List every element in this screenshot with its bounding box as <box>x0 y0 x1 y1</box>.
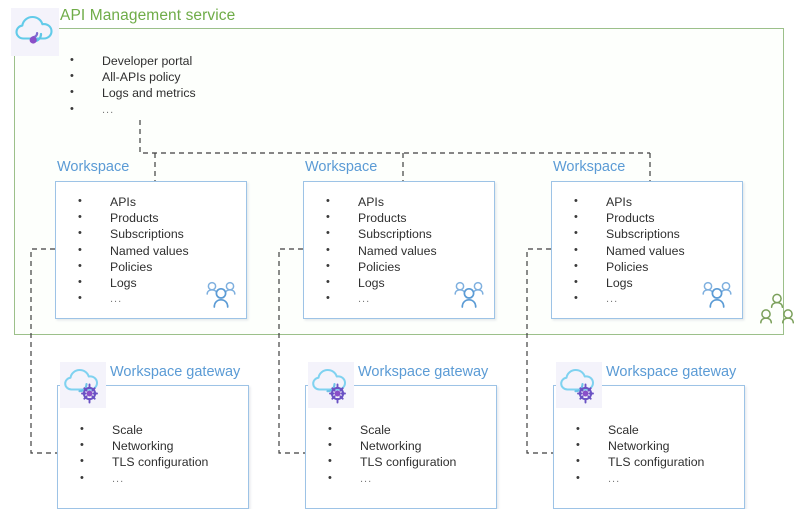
list-item: Subscriptions <box>574 226 685 242</box>
workspace-gateway-1-cloud-icon <box>60 362 106 408</box>
diagram-canvas: API Management service Developer portal … <box>0 0 800 507</box>
list-item: Named values <box>78 243 189 259</box>
workspace-1-box[interactable]: APIs Products Subscriptions Named values… <box>55 181 247 319</box>
workspace-2-people-icon <box>452 280 486 310</box>
list-item: Networking <box>328 438 456 454</box>
list-item: Products <box>326 210 437 226</box>
list-item: Scale <box>80 422 208 438</box>
workspace-gateway-2-label: Workspace gateway <box>358 364 488 380</box>
workspace-gateway-3-label: Workspace gateway <box>606 364 736 380</box>
list-item: TLS configuration <box>576 454 704 470</box>
service-title: API Management service <box>60 7 235 25</box>
workspace-3-box[interactable]: APIs Products Subscriptions Named values… <box>551 181 743 319</box>
workspace-gateway-2-feature-list: Scale Networking TLS configuration ... <box>328 422 456 487</box>
list-item: Products <box>78 210 189 226</box>
list-item: Policies <box>574 259 685 275</box>
workspace-1-feature-list: APIs Products Subscriptions Named values… <box>78 194 189 307</box>
list-item: ... <box>574 291 685 307</box>
workspace-gateway-1-label: Workspace gateway <box>110 364 240 380</box>
workspace-2-label: Workspace <box>305 159 377 175</box>
workspace-gateway-3-feature-list: Scale Networking TLS configuration ... <box>576 422 704 487</box>
service-feature-list: Developer portal All-APIs policy Logs an… <box>70 53 196 118</box>
list-item: Policies <box>326 259 437 275</box>
workspace-2-feature-list: APIs Products Subscriptions Named values… <box>326 194 437 307</box>
workspace-1-people-icon <box>204 280 238 310</box>
service-users-group-icon <box>760 293 794 326</box>
list-item: ... <box>328 471 456 487</box>
list-item: ... <box>70 102 196 118</box>
list-item: Scale <box>576 422 704 438</box>
list-item: Subscriptions <box>78 226 189 242</box>
workspace-gateway-1-feature-list: Scale Networking TLS configuration ... <box>80 422 208 487</box>
list-item: ... <box>78 291 189 307</box>
list-item: Networking <box>80 438 208 454</box>
list-item: Policies <box>78 259 189 275</box>
list-item: TLS configuration <box>80 454 208 470</box>
list-item: All-APIs policy <box>70 69 196 85</box>
list-item: ... <box>576 471 704 487</box>
workspace-3-people-icon <box>700 280 734 310</box>
list-item: Logs <box>78 275 189 291</box>
list-item: ... <box>80 471 208 487</box>
list-item: Named values <box>574 243 685 259</box>
workspace-gateway-3-cloud-icon <box>556 362 602 408</box>
workspace-1-label: Workspace <box>57 159 129 175</box>
workspace-2-box[interactable]: APIs Products Subscriptions Named values… <box>303 181 495 319</box>
list-item: APIs <box>574 194 685 210</box>
workspace-3-label: Workspace <box>553 159 625 175</box>
list-item: Logs <box>326 275 437 291</box>
list-item: Products <box>574 210 685 226</box>
list-item: TLS configuration <box>328 454 456 470</box>
list-item: APIs <box>326 194 437 210</box>
list-item: Developer portal <box>70 53 196 69</box>
workspace-gateway-2-cloud-icon <box>308 362 354 408</box>
list-item: Named values <box>326 243 437 259</box>
workspace-3-feature-list: APIs Products Subscriptions Named values… <box>574 194 685 307</box>
list-item: ... <box>326 291 437 307</box>
list-item: APIs <box>78 194 189 210</box>
list-item: Logs <box>574 275 685 291</box>
api-management-cloud-icon <box>11 8 59 56</box>
list-item: Logs and metrics <box>70 85 196 101</box>
list-item: Subscriptions <box>326 226 437 242</box>
list-item: Scale <box>328 422 456 438</box>
list-item: Networking <box>576 438 704 454</box>
